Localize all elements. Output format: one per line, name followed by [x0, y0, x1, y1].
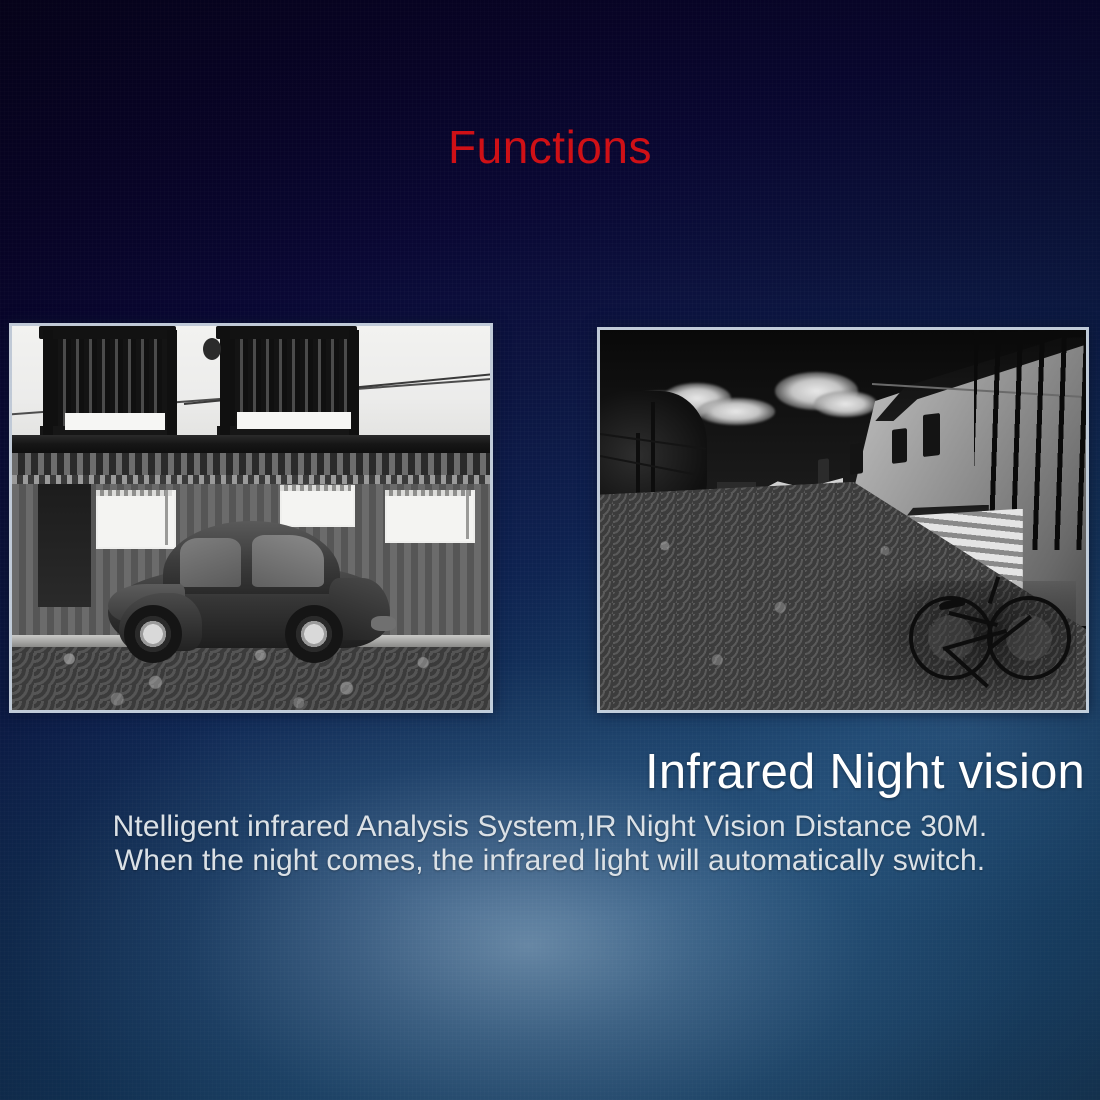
bicycle-handlebars: [988, 576, 1001, 604]
photo-right-night-vision-alley: [600, 330, 1086, 710]
photo-left-night-vision-car: [12, 326, 490, 710]
photo-right-scene: [600, 330, 1086, 710]
window-3: [385, 490, 475, 544]
page-title: Functions: [0, 124, 1100, 170]
cloud-3: [697, 398, 775, 425]
car-rear-wheel: [285, 605, 343, 663]
window-valance-1: [96, 490, 172, 496]
feature-headline: Infrared Night vision: [85, 748, 1085, 797]
upper-window-2: [237, 412, 352, 430]
balcony-post-3: [220, 330, 230, 438]
car-rear-window: [252, 535, 324, 588]
balcony-post-2: [167, 330, 177, 438]
slide-canvas: Functions: [0, 0, 1100, 1100]
car-front-wheel: [124, 605, 182, 663]
window-valance-3: [385, 490, 471, 496]
bicycle: [906, 550, 1071, 679]
feature-description-line-2: When the night comes, the infrared light…: [0, 844, 1100, 878]
doorway: [38, 484, 91, 607]
building-window-3: [850, 443, 863, 475]
beetle-car: [108, 514, 385, 660]
feature-description-line-1: Ntelligent infrared Analysis System,IR N…: [0, 810, 1100, 844]
car-windshield: [180, 538, 241, 588]
window-valance-2: [280, 485, 352, 491]
building-window-2: [892, 428, 907, 464]
facade-beam: [12, 435, 490, 454]
car-bumper: [371, 616, 396, 631]
balcony-post-1: [43, 330, 53, 438]
upper-window-1: [65, 413, 165, 431]
building-window-1: [923, 413, 940, 457]
photo-left-scene: [12, 326, 490, 710]
window-mullion-2: [466, 490, 469, 540]
feature-description: Ntelligent infrared Analysis System,IR N…: [0, 810, 1100, 878]
